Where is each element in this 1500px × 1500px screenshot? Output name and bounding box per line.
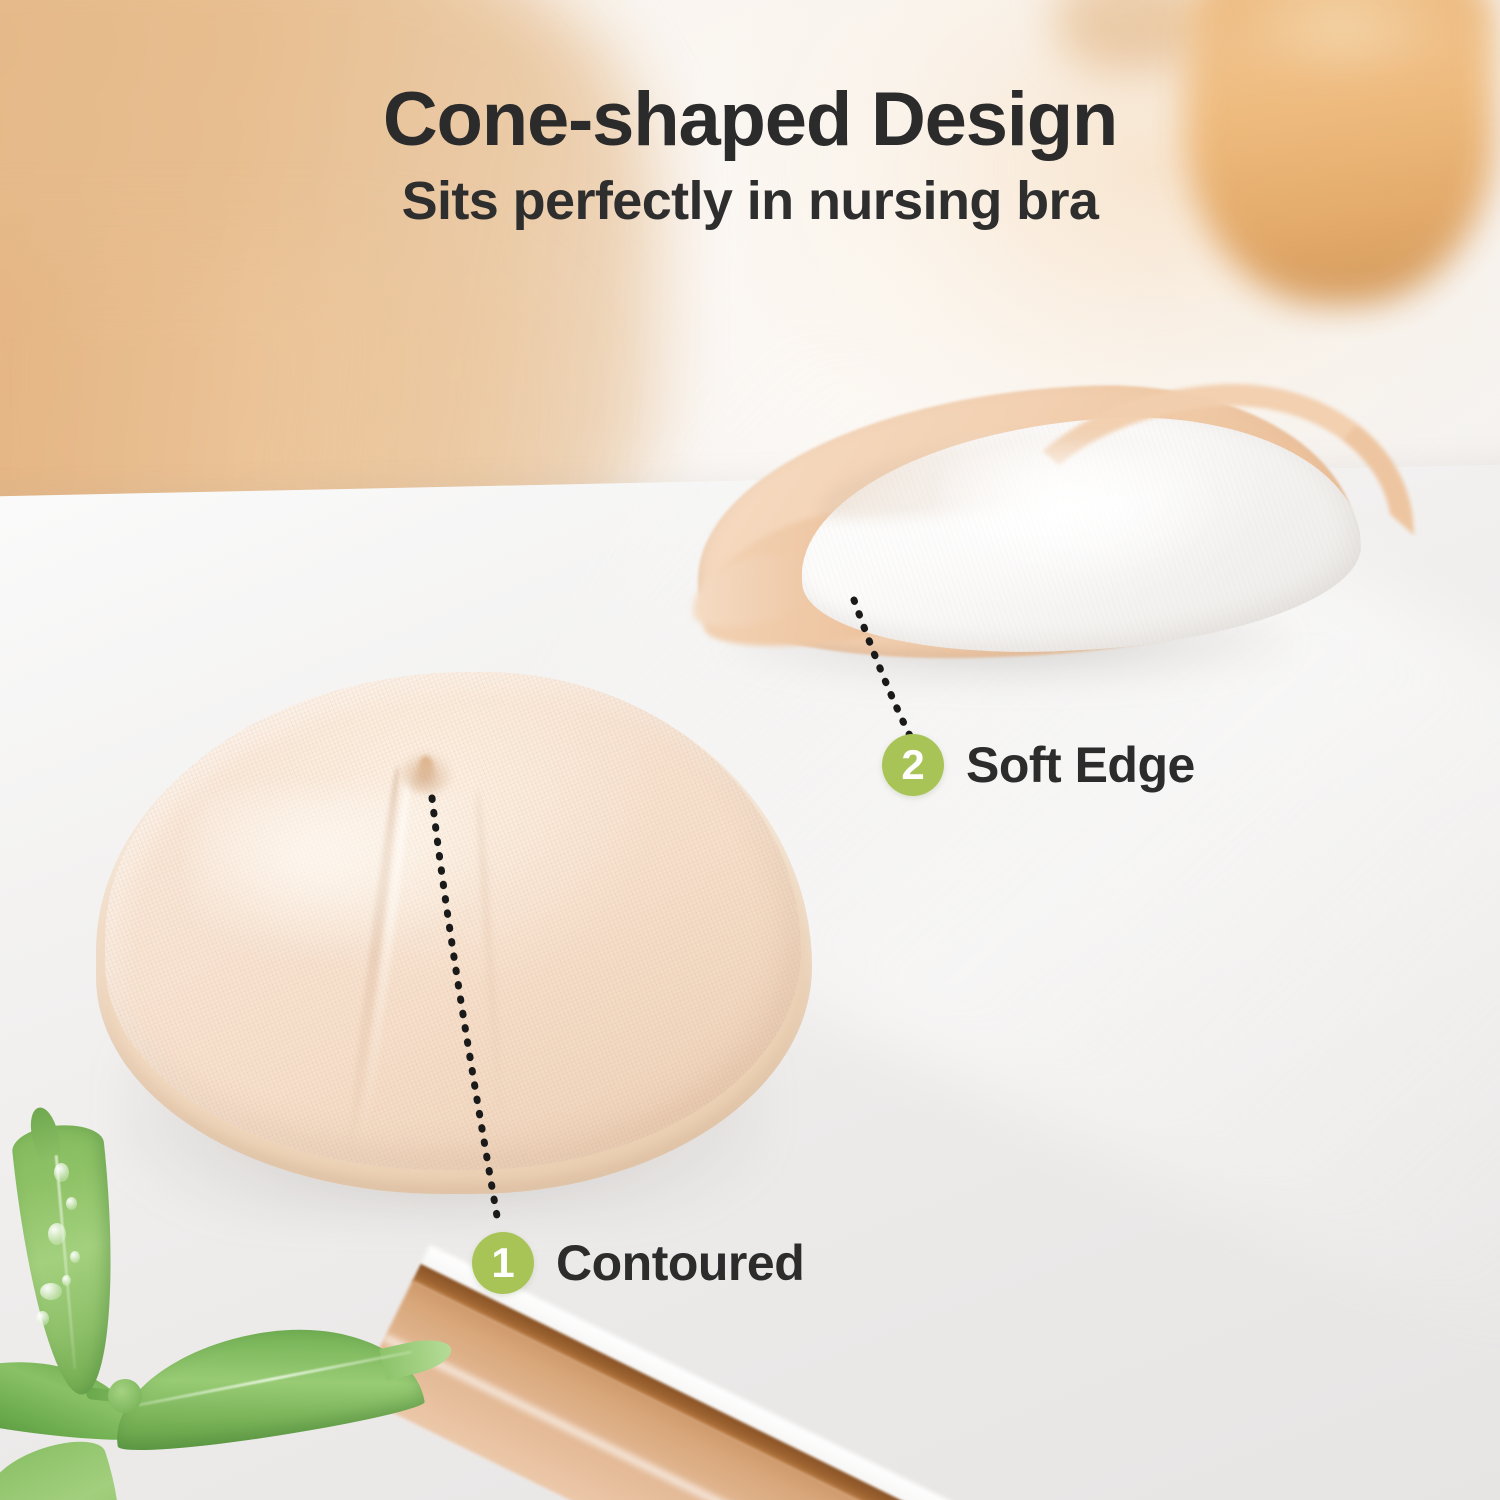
product-infographic: Cone-shaped Design Sits perfectly in nur… (0, 0, 1500, 1500)
water-droplet-icon (36, 1311, 49, 1326)
folded-nursing-pad (690, 382, 1370, 682)
cone-pad-highlight (191, 788, 491, 958)
bamboo-leaf-node (108, 1379, 142, 1413)
water-droplet-icon (66, 1197, 77, 1210)
header-block: Cone-shaped Design Sits perfectly in nur… (0, 82, 1500, 228)
callout-badge-number-2: 2 (901, 741, 924, 789)
callout-label-2: Soft Edge (966, 736, 1195, 794)
water-droplet-icon (48, 1223, 66, 1245)
page-subtitle: Sits perfectly in nursing bra (0, 174, 1500, 228)
callout-badge-1: 1 (472, 1232, 534, 1294)
folded-pad-highlight (940, 444, 1230, 584)
bamboo-leaves (0, 1115, 420, 1500)
water-droplet-icon (70, 1251, 80, 1263)
callout-contoured: 1 Contoured (472, 1232, 804, 1294)
water-droplet-icon (54, 1163, 69, 1182)
bamboo-leaf-right-icon (104, 1309, 426, 1460)
water-droplet-icon (40, 1283, 62, 1300)
cone-pad-apex-tip (418, 756, 434, 784)
callout-label-1: Contoured (556, 1234, 804, 1292)
page-title: Cone-shaped Design (0, 82, 1500, 158)
callout-badge-2: 2 (882, 734, 944, 796)
blurred-small-wooden-dish (1055, 0, 1205, 70)
water-droplet-icon (62, 1275, 71, 1286)
callout-soft-edge: 2 Soft Edge (882, 734, 1195, 796)
callout-badge-number-1: 1 (491, 1239, 514, 1287)
